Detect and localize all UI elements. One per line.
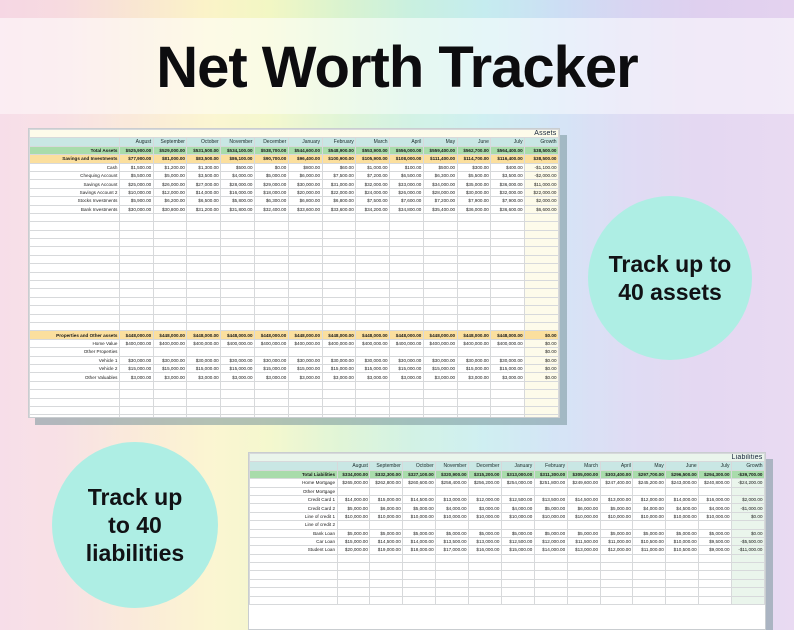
liabilities-empty-cell[interactable] [600,579,633,587]
liabilities-empty-cell[interactable] [666,579,699,587]
assets-row[interactable]: Savings Account$25,000.00$26,000.00$27,0… [30,180,559,188]
assets-cell[interactable]: $525,900.00 [119,146,153,154]
assets-empty-cell[interactable] [30,297,120,305]
liabilities-empty-cell[interactable] [501,571,534,579]
assets-cell[interactable]: $3,000.00 [423,373,457,381]
assets-cell[interactable]: $30,000.00 [457,356,491,364]
assets-empty-row[interactable] [30,289,559,297]
assets-cell[interactable]: $31,200.00 [187,205,221,213]
assets-cell[interactable]: $6,800.00 [322,197,356,205]
assets-row-label[interactable]: Stocks Investments [30,197,120,205]
assets-cell[interactable]: $3,500.00 [491,171,525,179]
assets-empty-cell[interactable] [525,272,559,280]
assets-row-label[interactable]: Total Assets [30,146,120,154]
liabilities-cell[interactable]: $262,800.00 [370,479,403,487]
assets-cell[interactable]: $35,400.00 [423,205,457,213]
assets-cell[interactable]: $500.00 [221,163,255,171]
liabilities-empty-cell[interactable] [633,571,666,579]
liabilities-col-header[interactable]: June [666,462,699,470]
assets-cell[interactable]: $800.00 [288,163,322,171]
liabilities-empty-cell[interactable] [501,579,534,587]
assets-cell[interactable]: $448,000.00 [423,331,457,339]
assets-empty-cell[interactable] [423,322,457,330]
liabilities-empty-cell[interactable] [469,579,502,587]
liabilities-empty-cell[interactable] [370,554,403,562]
liabilities-row[interactable]: Home Mortgage$265,000.00$262,800.00$260,… [250,479,765,487]
assets-empty-cell[interactable] [457,381,491,389]
liabilities-cell[interactable]: $4,500.00 [666,504,699,512]
assets-empty-cell[interactable] [221,239,255,247]
liabilities-cell[interactable]: $243,000.00 [666,479,699,487]
assets-empty-cell[interactable] [288,264,322,272]
liabilities-cell[interactable]: $10,000.00 [567,512,600,520]
assets-empty-cell[interactable] [356,239,390,247]
liabilities-empty-cell[interactable] [250,563,338,571]
liabilities-cell[interactable]: $311,300.00 [534,470,567,478]
liabilities-empty-cell[interactable] [403,588,436,596]
liabilities-empty-cell[interactable] [370,563,403,571]
assets-empty-cell[interactable] [288,306,322,314]
assets-empty-cell[interactable] [153,322,187,330]
liabilities-cell[interactable] [600,487,633,495]
assets-empty-cell[interactable] [525,322,559,330]
liabilities-cell[interactable]: $5,000.00 [567,529,600,537]
liabilities-cell[interactable] [337,521,370,529]
assets-col-header[interactable]: Growth [525,138,559,146]
assets-empty-cell[interactable] [423,213,457,221]
assets-cell[interactable]: $32,000.00 [491,188,525,196]
assets-cell[interactable]: $3,000.00 [356,373,390,381]
liabilities-empty-cell[interactable] [337,563,370,571]
assets-empty-cell[interactable] [119,247,153,255]
liabilities-col-header[interactable]: January [501,462,534,470]
liabilities-cell[interactable]: $12,500.00 [501,537,534,545]
assets-empty-cell[interactable] [255,314,289,322]
liabilities-cell[interactable]: $10,000.00 [370,512,403,520]
assets-empty-cell[interactable] [525,297,559,305]
liabilities-cell[interactable]: $9,500.00 [699,537,732,545]
assets-empty-cell[interactable] [221,230,255,238]
liabilities-cell[interactable]: $249,600.00 [567,479,600,487]
liabilities-empty-cell[interactable] [250,588,338,596]
assets-empty-cell[interactable] [356,272,390,280]
assets-row[interactable]: Savings and Investments$77,900.00$81,000… [30,155,559,163]
liabilities-cell[interactable]: $12,000.00 [633,495,666,503]
assets-empty-cell[interactable] [255,264,289,272]
assets-cell[interactable]: $15,000.00 [255,364,289,372]
assets-empty-cell[interactable] [423,289,457,297]
liabilities-row[interactable]: Credit Card 2$5,000.00$6,000.00$5,000.00… [250,504,765,512]
assets-empty-cell[interactable] [390,255,424,263]
assets-empty-row[interactable] [30,272,559,280]
liabilities-empty-cell[interactable] [534,554,567,562]
liabilities-row[interactable]: Other Mortgage [250,487,765,495]
assets-cell[interactable]: $400,000.00 [221,339,255,347]
assets-empty-cell[interactable] [288,297,322,305]
assets-empty-cell[interactable] [423,239,457,247]
assets-cell[interactable]: $38,500.00 [525,146,559,154]
assets-row[interactable]: Vehicle 1$30,000.00$30,000.00$30,000.00$… [30,356,559,364]
assets-cell[interactable]: $34,800.00 [390,205,424,213]
assets-empty-cell[interactable] [153,222,187,230]
assets-empty-cell[interactable] [30,381,120,389]
liabilities-cell[interactable]: $11,500.00 [567,537,600,545]
liabilities-empty-cell[interactable] [567,596,600,604]
assets-empty-cell[interactable] [255,406,289,414]
liabilities-cell[interactable]: $10,500.00 [666,546,699,554]
assets-empty-cell[interactable] [119,213,153,221]
liabilities-col-header[interactable]: March [567,462,600,470]
liabilities-cell[interactable] [699,521,732,529]
assets-empty-cell[interactable] [187,239,221,247]
liabilities-empty-cell[interactable] [469,571,502,579]
assets-cell[interactable]: $96,400.00 [288,155,322,163]
assets-empty-cell[interactable] [187,264,221,272]
assets-cell[interactable]: $30,000.00 [119,205,153,213]
liabilities-cell[interactable]: $320,900.00 [436,470,469,478]
assets-empty-cell[interactable] [525,230,559,238]
assets-cell[interactable]: $30,000.00 [288,356,322,364]
assets-cell[interactable]: $7,200.00 [356,171,390,179]
liabilities-empty-cell[interactable] [633,588,666,596]
assets-empty-cell[interactable] [390,264,424,272]
assets-cell[interactable]: $0.00 [525,348,559,356]
assets-empty-cell[interactable] [187,222,221,230]
assets-empty-cell[interactable] [491,230,525,238]
liabilities-col-header[interactable]: December [469,462,502,470]
liabilities-empty-cell[interactable] [567,588,600,596]
assets-empty-cell[interactable] [221,289,255,297]
liabilities-cell[interactable]: $4,000.00 [699,504,732,512]
liabilities-row-label[interactable]: Line of credit 2 [250,521,338,529]
assets-col-header[interactable] [30,138,120,146]
assets-empty-cell[interactable] [119,230,153,238]
liabilities-cell[interactable]: $5,000.00 [534,504,567,512]
liabilities-cell[interactable]: $258,400.00 [436,479,469,487]
liabilities-row[interactable]: Car Loan$15,000.00$14,500.00$14,000.00$1… [250,537,765,545]
liabilities-empty-cell[interactable] [337,579,370,587]
assets-empty-row[interactable] [30,239,559,247]
assets-col-header[interactable]: May [423,138,457,146]
assets-col-header[interactable]: September [153,138,187,146]
liabilities-cell[interactable]: $15,000.00 [370,495,403,503]
liabilities-row[interactable]: Credit Card 1$14,000.00$15,000.00$14,500… [250,495,765,503]
assets-cell[interactable]: $7,500.00 [322,171,356,179]
assets-empty-cell[interactable] [221,322,255,330]
liabilities-cell[interactable]: $15,000.00 [501,546,534,554]
assets-empty-cell[interactable] [525,406,559,414]
assets-empty-cell[interactable] [457,247,491,255]
assets-cell[interactable]: $1,000.00 [356,163,390,171]
liabilities-cell[interactable]: $5,000.00 [337,529,370,537]
assets-empty-cell[interactable] [491,415,525,418]
liabilities-cell[interactable] [337,487,370,495]
assets-empty-cell[interactable] [30,322,120,330]
assets-empty-cell[interactable] [423,306,457,314]
assets-empty-cell[interactable] [322,415,356,418]
assets-empty-cell[interactable] [457,213,491,221]
liabilities-cell[interactable]: $240,800.00 [699,479,732,487]
liabilities-cell[interactable] [370,521,403,529]
liabilities-row[interactable]: Line of credit 2 [250,521,765,529]
assets-cell[interactable]: $2,000.00 [525,197,559,205]
assets-cell[interactable]: $7,900.00 [457,197,491,205]
assets-empty-cell[interactable] [30,230,120,238]
assets-cell[interactable]: $3,000.00 [119,373,153,381]
assets-cell[interactable]: $22,000.00 [322,188,356,196]
assets-empty-cell[interactable] [187,306,221,314]
assets-cell[interactable]: $116,400.00 [491,155,525,163]
assets-empty-cell[interactable] [390,390,424,398]
liabilities-empty-cell[interactable] [370,579,403,587]
liabilities-cell[interactable]: $15,000.00 [337,537,370,545]
assets-empty-cell[interactable] [255,289,289,297]
assets-empty-cell[interactable] [221,381,255,389]
liabilities-cell[interactable]: $9,000.00 [699,546,732,554]
assets-empty-cell[interactable] [356,264,390,272]
assets-cell[interactable]: $400,000.00 [288,339,322,347]
assets-cell[interactable]: $448,000.00 [390,331,424,339]
assets-empty-cell[interactable] [153,306,187,314]
assets-empty-row[interactable] [30,306,559,314]
liabilities-cell[interactable]: $10,500.00 [633,537,666,545]
liabilities-empty-cell[interactable] [534,588,567,596]
assets-col-header[interactable]: August [119,138,153,146]
liabilities-cell[interactable]: $6,000.00 [370,504,403,512]
assets-empty-cell[interactable] [187,247,221,255]
assets-cell[interactable]: $36,000.00 [457,205,491,213]
assets-empty-cell[interactable] [457,390,491,398]
assets-row[interactable]: Properties and Other assets$448,000.00$4… [30,331,559,339]
assets-empty-cell[interactable] [457,306,491,314]
assets-cell[interactable]: $400,000.00 [187,339,221,347]
assets-cell[interactable]: $6,500.00 [187,197,221,205]
liabilities-empty-cell[interactable] [699,596,732,604]
assets-empty-cell[interactable] [221,390,255,398]
liabilities-cell[interactable]: $5,000.00 [699,529,732,537]
assets-empty-cell[interactable] [255,239,289,247]
liabilities-cell[interactable]: $5,000.00 [633,529,666,537]
assets-empty-cell[interactable] [187,255,221,263]
assets-empty-cell[interactable] [322,281,356,289]
assets-empty-cell[interactable] [491,272,525,280]
assets-cell[interactable]: $105,900.00 [356,155,390,163]
liabilities-cell[interactable] [436,487,469,495]
assets-col-header[interactable]: March [356,138,390,146]
liabilities-cell[interactable] [436,521,469,529]
assets-empty-row[interactable] [30,247,559,255]
assets-empty-row[interactable] [30,390,559,398]
assets-empty-cell[interactable] [322,213,356,221]
assets-row-label[interactable]: Other Properties [30,348,120,356]
assets-empty-cell[interactable] [221,272,255,280]
assets-cell[interactable] [390,348,424,356]
assets-empty-cell[interactable] [390,314,424,322]
assets-empty-cell[interactable] [491,406,525,414]
assets-cell[interactable]: $35,000.00 [457,180,491,188]
liabilities-cell[interactable]: $327,100.00 [403,470,436,478]
assets-empty-cell[interactable] [390,406,424,414]
liabilities-row[interactable]: Student Loan$20,000.00$19,000.00$18,000.… [250,546,765,554]
liabilities-empty-row[interactable] [250,596,765,604]
assets-empty-cell[interactable] [153,390,187,398]
assets-empty-cell[interactable] [255,222,289,230]
assets-empty-cell[interactable] [390,322,424,330]
assets-empty-cell[interactable] [187,272,221,280]
assets-empty-cell[interactable] [255,272,289,280]
liabilities-cell[interactable]: $0.00 [732,529,765,537]
assets-cell[interactable]: $0.00 [525,339,559,347]
assets-empty-cell[interactable] [457,272,491,280]
assets-cell[interactable]: $25,000.00 [119,180,153,188]
assets-col-header[interactable]: April [390,138,424,146]
liabilities-cell[interactable]: $10,000.00 [337,512,370,520]
assets-empty-cell[interactable] [525,247,559,255]
liabilities-cell[interactable]: $334,000.00 [337,470,370,478]
liabilities-empty-cell[interactable] [436,588,469,596]
liabilities-empty-cell[interactable] [534,579,567,587]
assets-empty-cell[interactable] [356,406,390,414]
assets-cell[interactable]: $11,000.00 [525,180,559,188]
assets-empty-cell[interactable] [457,398,491,406]
assets-empty-cell[interactable] [390,239,424,247]
liabilities-cell[interactable]: $12,000.00 [600,546,633,554]
assets-cell[interactable]: $448,000.00 [457,331,491,339]
assets-empty-row[interactable] [30,230,559,238]
liabilities-cell[interactable] [732,521,765,529]
assets-empty-cell[interactable] [30,222,120,230]
liabilities-empty-cell[interactable] [370,588,403,596]
assets-row[interactable]: Stocks Investments$5,900.00$6,200.00$6,5… [30,197,559,205]
liabilities-empty-cell[interactable] [699,571,732,579]
assets-cell[interactable]: $90,700.00 [255,155,289,163]
assets-empty-cell[interactable] [119,306,153,314]
assets-cell[interactable]: $4,000.00 [221,171,255,179]
assets-cell[interactable]: $400.00 [491,163,525,171]
assets-empty-cell[interactable] [119,406,153,414]
assets-cell[interactable]: $6,200.00 [153,197,187,205]
liabilities-empty-cell[interactable] [666,563,699,571]
liabilities-cell[interactable]: -$5,500.00 [732,537,765,545]
liabilities-empty-cell[interactable] [250,571,338,579]
assets-cell[interactable] [356,348,390,356]
assets-cell[interactable]: $30,000.00 [153,356,187,364]
assets-empty-cell[interactable] [30,247,120,255]
assets-col-header[interactable]: February [322,138,356,146]
assets-empty-cell[interactable] [322,314,356,322]
liabilities-empty-cell[interactable] [633,563,666,571]
assets-cell[interactable]: $5,900.00 [119,197,153,205]
assets-empty-cell[interactable] [288,281,322,289]
liabilities-cell[interactable] [469,521,502,529]
assets-cell[interactable]: $0.00 [525,356,559,364]
liabilities-empty-cell[interactable] [436,596,469,604]
liabilities-empty-cell[interactable] [370,571,403,579]
liabilities-cell[interactable]: $265,000.00 [337,479,370,487]
assets-empty-cell[interactable] [457,230,491,238]
assets-cell[interactable]: $1,300.00 [187,163,221,171]
assets-cell[interactable]: $10,000.00 [119,188,153,196]
assets-cell[interactable]: $28,000.00 [423,188,457,196]
assets-cell[interactable]: $531,500.00 [187,146,221,154]
assets-empty-cell[interactable] [457,415,491,418]
liabilities-cell[interactable] [666,487,699,495]
assets-empty-cell[interactable] [288,322,322,330]
assets-col-header[interactable]: July [491,138,525,146]
assets-empty-cell[interactable] [288,255,322,263]
assets-empty-cell[interactable] [356,398,390,406]
assets-empty-cell[interactable] [390,289,424,297]
liabilities-cell[interactable] [501,521,534,529]
assets-empty-cell[interactable] [525,281,559,289]
assets-empty-cell[interactable] [221,406,255,414]
assets-row[interactable]: Total Assets$525,900.00$529,000.00$531,5… [30,146,559,154]
assets-empty-cell[interactable] [288,247,322,255]
assets-row-label[interactable]: Home Value [30,339,120,347]
liabilities-cell[interactable]: $0.00 [732,512,765,520]
assets-empty-row[interactable] [30,281,559,289]
liabilities-empty-cell[interactable] [567,563,600,571]
assets-cell[interactable]: $6,800.00 [288,197,322,205]
assets-empty-cell[interactable] [221,264,255,272]
liabilities-row-label[interactable]: Home Mortgage [250,479,338,487]
liabilities-empty-cell[interactable] [633,579,666,587]
assets-cell[interactable]: $15,000.00 [187,364,221,372]
assets-cell[interactable]: $24,000.00 [356,188,390,196]
liabilities-cell[interactable]: $247,400.00 [600,479,633,487]
assets-empty-cell[interactable] [30,306,120,314]
liabilities-empty-cell[interactable] [600,596,633,604]
liabilities-empty-cell[interactable] [501,588,534,596]
assets-row-label[interactable]: Vehicle 1 [30,356,120,364]
assets-cell[interactable]: $30,000.00 [255,356,289,364]
liabilities-empty-cell[interactable] [370,596,403,604]
assets-empty-cell[interactable] [221,213,255,221]
assets-empty-cell[interactable] [423,314,457,322]
assets-empty-cell[interactable] [423,406,457,414]
assets-row[interactable]: Cash$1,500.00$1,200.00$1,300.00$500.00$0… [30,163,559,171]
liabilities-cell[interactable]: -$24,200.00 [732,479,765,487]
liabilities-cell[interactable]: $5,000.00 [666,529,699,537]
assets-cell[interactable]: $400,000.00 [390,339,424,347]
assets-cell[interactable]: -$2,000.00 [525,171,559,179]
assets-cell[interactable]: $30,000.00 [491,356,525,364]
assets-row[interactable]: Other Valuables$3,000.00$3,000.00$3,000.… [30,373,559,381]
assets-cell[interactable]: $544,600.00 [288,146,322,154]
liabilities-cell[interactable]: $5,000.00 [370,529,403,537]
assets-cell[interactable]: $400,000.00 [423,339,457,347]
liabilities-empty-cell[interactable] [250,596,338,604]
liabilities-empty-cell[interactable] [699,554,732,562]
assets-empty-cell[interactable] [491,213,525,221]
assets-empty-cell[interactable] [221,415,255,418]
assets-cell[interactable]: $32,000.00 [356,180,390,188]
assets-cell[interactable]: $3,000.00 [390,373,424,381]
liabilities-empty-cell[interactable] [567,571,600,579]
assets-cell[interactable]: $30,000.00 [221,356,255,364]
assets-cell[interactable]: $3,000.00 [153,373,187,381]
liabilities-cell[interactable] [666,521,699,529]
liabilities-cell[interactable]: $11,000.00 [633,546,666,554]
liabilities-empty-cell[interactable] [534,563,567,571]
assets-empty-cell[interactable] [30,289,120,297]
assets-empty-cell[interactable] [390,398,424,406]
assets-empty-cell[interactable] [457,314,491,322]
assets-cell[interactable]: $28,000.00 [221,180,255,188]
assets-empty-cell[interactable] [423,297,457,305]
assets-empty-cell[interactable] [322,255,356,263]
liabilities-cell[interactable]: $13,000.00 [436,495,469,503]
